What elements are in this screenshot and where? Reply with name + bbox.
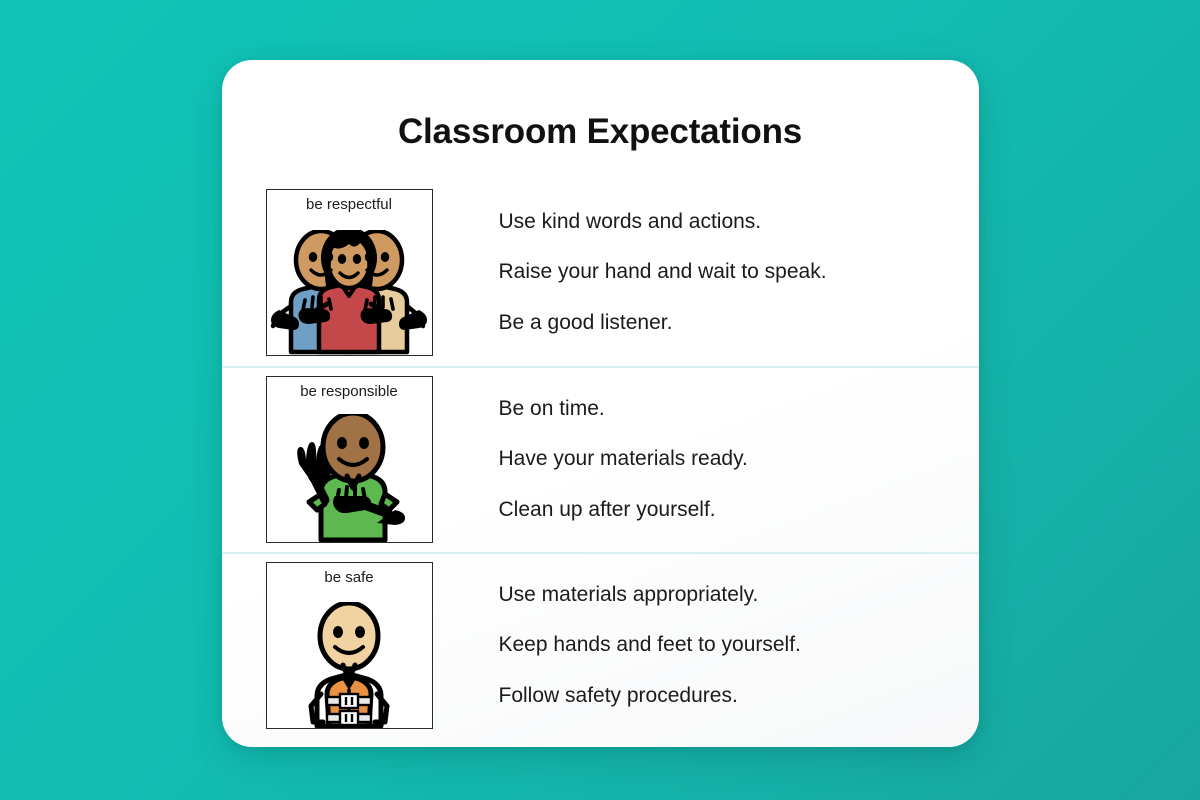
expectation-line: Use materials appropriately. (499, 583, 801, 607)
page-title: Classroom Expectations (222, 60, 979, 180)
be-respectful-text-column: Use kind words and actions. Raise your h… (433, 210, 827, 334)
expectation-line: Be on time. (499, 397, 748, 421)
be-safe-art (267, 587, 432, 729)
expectation-line: Be a good listener. (499, 311, 827, 335)
classroom-expectations-card: Classroom Expectations be respectful (222, 60, 979, 747)
expectation-line: Keep hands and feet to yourself. (499, 633, 801, 657)
be-responsible-art (267, 401, 432, 543)
be-safe-text-column: Use materials appropriately. Keep hands … (433, 583, 801, 707)
be-responsible-text-column: Be on time. Have your materials ready. C… (433, 397, 748, 521)
expectation-row-be-respectful: be respectful (222, 180, 979, 366)
be-respectful-label: be respectful (306, 190, 392, 214)
be-safe-label: be safe (324, 563, 373, 587)
be-respectful-art (267, 214, 432, 356)
be-responsible-label: be responsible (300, 377, 398, 401)
expectation-row-be-responsible: be responsible (222, 366, 979, 552)
expectation-line: Follow safety procedures. (499, 684, 801, 708)
be-safe-pictogram: be safe (266, 562, 433, 729)
be-responsible-pictogram: be responsible (266, 376, 433, 543)
be-respectful-pictogram: be respectful (266, 189, 433, 356)
expectation-line: Clean up after yourself. (499, 498, 748, 522)
expectation-row-be-safe: be safe (222, 552, 979, 738)
expectation-line: Use kind words and actions. (499, 210, 827, 234)
expectation-line: Have your materials ready. (499, 447, 748, 471)
expectation-line: Raise your hand and wait to speak. (499, 260, 827, 284)
expectations-list: be respectful (222, 180, 979, 738)
